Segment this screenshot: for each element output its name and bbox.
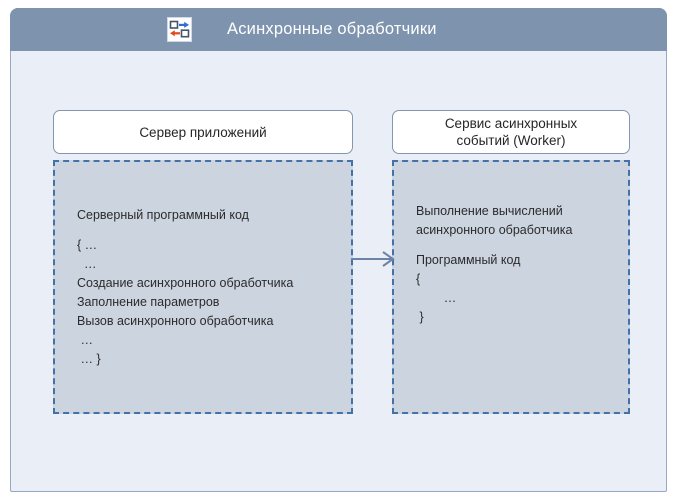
diagram-canvas: Асинхронные обработчики Серверный програ… [0, 0, 678, 502]
node-body-app-server: Серверный программный код{ … …Создание а… [53, 160, 353, 414]
async-exchange-icon [167, 17, 192, 42]
node-body-text-worker-service: Выполнение вычисленийасинхронного обрабо… [416, 202, 572, 327]
node-header-label-app-server: Сервер приложений [139, 124, 266, 141]
node-body-text-app-server: Серверный программный код{ … …Создание а… [77, 206, 293, 369]
node-header-worker-service[interactable]: Сервис асинхронных событий (Worker) [392, 110, 630, 154]
node-header-app-server[interactable]: Сервер приложений [53, 110, 353, 154]
node-header-label-worker-service: Сервис асинхронных событий (Worker) [445, 115, 577, 149]
diagram-title-bar: Асинхронные обработчики [10, 8, 667, 51]
diagram-title: Асинхронные обработчики [227, 8, 437, 51]
connector-app-server-to-worker [351, 248, 395, 270]
node-body-worker-service: Выполнение вычисленийасинхронного обрабо… [392, 160, 630, 414]
